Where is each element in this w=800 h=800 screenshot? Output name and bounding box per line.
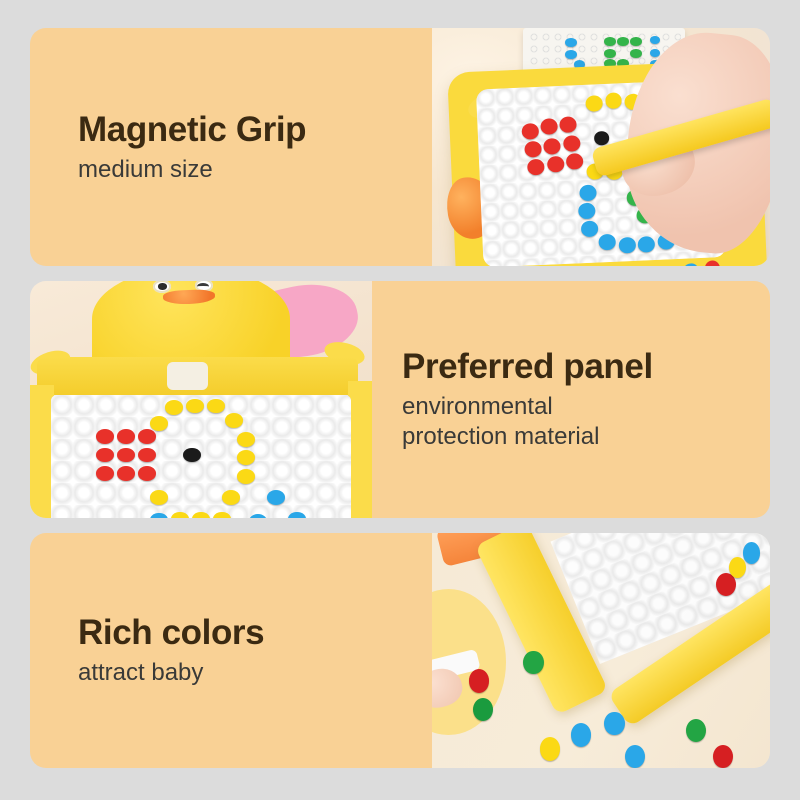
reference-bead <box>565 50 576 59</box>
board-bead <box>96 429 114 444</box>
duck-eye-left <box>153 281 171 293</box>
feature-headline: Magnetic Grip <box>78 110 432 149</box>
feature-row-rich-colors: Rich colors attract baby <box>30 533 770 768</box>
feature-row-magnetic-grip: Magnetic Grip medium size <box>30 28 770 266</box>
board-bead <box>138 429 156 444</box>
feature-text-card-magnetic-grip: Magnetic Grip medium size <box>30 28 432 266</box>
feature-subline: attract baby <box>78 658 432 688</box>
board-bead <box>117 429 135 444</box>
board-bead <box>96 448 114 463</box>
board-bead <box>237 432 255 447</box>
board-bead <box>138 448 156 463</box>
feature-subline-line1: attract baby <box>78 659 203 686</box>
scatter-bead <box>625 745 645 769</box>
feature-text-card-preferred-panel: Preferred panel environmental protection… <box>372 281 770 518</box>
board-frame-right <box>348 381 372 518</box>
reference-bead <box>650 36 660 44</box>
feature-headline: Preferred panel <box>402 347 770 386</box>
board-bead <box>165 400 183 415</box>
board-bead <box>117 466 135 481</box>
board-bead <box>96 466 114 481</box>
board-bead <box>138 466 156 481</box>
reference-bead <box>630 49 641 58</box>
feature-photo-rich-colors <box>432 533 770 768</box>
feature-subline-line1: medium size <box>78 156 213 183</box>
duck-beak <box>163 289 215 304</box>
scatter-bead <box>604 712 624 736</box>
magnetic-board-panel <box>51 395 352 518</box>
board-bead <box>267 490 285 505</box>
reference-bead <box>630 37 641 46</box>
board-bead <box>150 416 168 431</box>
duck-pupil <box>158 283 167 289</box>
scatter-bead <box>540 737 560 761</box>
board-bead <box>225 413 243 428</box>
scatter-bead <box>713 745 733 769</box>
feature-subline-line2: protection material <box>402 422 770 452</box>
scatter-bead <box>743 542 760 563</box>
reference-bead <box>604 49 615 58</box>
feature-photo-magnetic-grip <box>432 28 770 266</box>
board-bead <box>222 490 240 505</box>
scatter-bead <box>523 651 543 675</box>
feature-row-preferred-panel: Preferred panel environmental protection… <box>30 281 770 518</box>
feature-subline: medium size <box>78 155 432 185</box>
reference-bead <box>650 49 660 57</box>
scatter-bead <box>473 698 493 722</box>
loose-bead <box>683 263 699 266</box>
board-bead <box>619 236 637 253</box>
scatter-bead <box>571 723 591 747</box>
feature-subline: environmental protection material <box>402 392 770 452</box>
loose-bead <box>705 260 721 266</box>
eraser-slider-handle <box>167 362 208 390</box>
board-bead <box>150 490 168 505</box>
feature-photo-preferred-panel <box>30 281 372 518</box>
feature-subline-line1: environmental <box>402 392 770 422</box>
board-bead <box>237 469 255 484</box>
board-bead <box>117 448 135 463</box>
feature-text-card-rich-colors: Rich colors attract baby <box>30 533 432 768</box>
product-feature-collage: Magnetic Grip medium size <box>0 0 800 800</box>
scatter-bead <box>686 719 706 743</box>
feature-headline: Rich colors <box>78 613 432 652</box>
